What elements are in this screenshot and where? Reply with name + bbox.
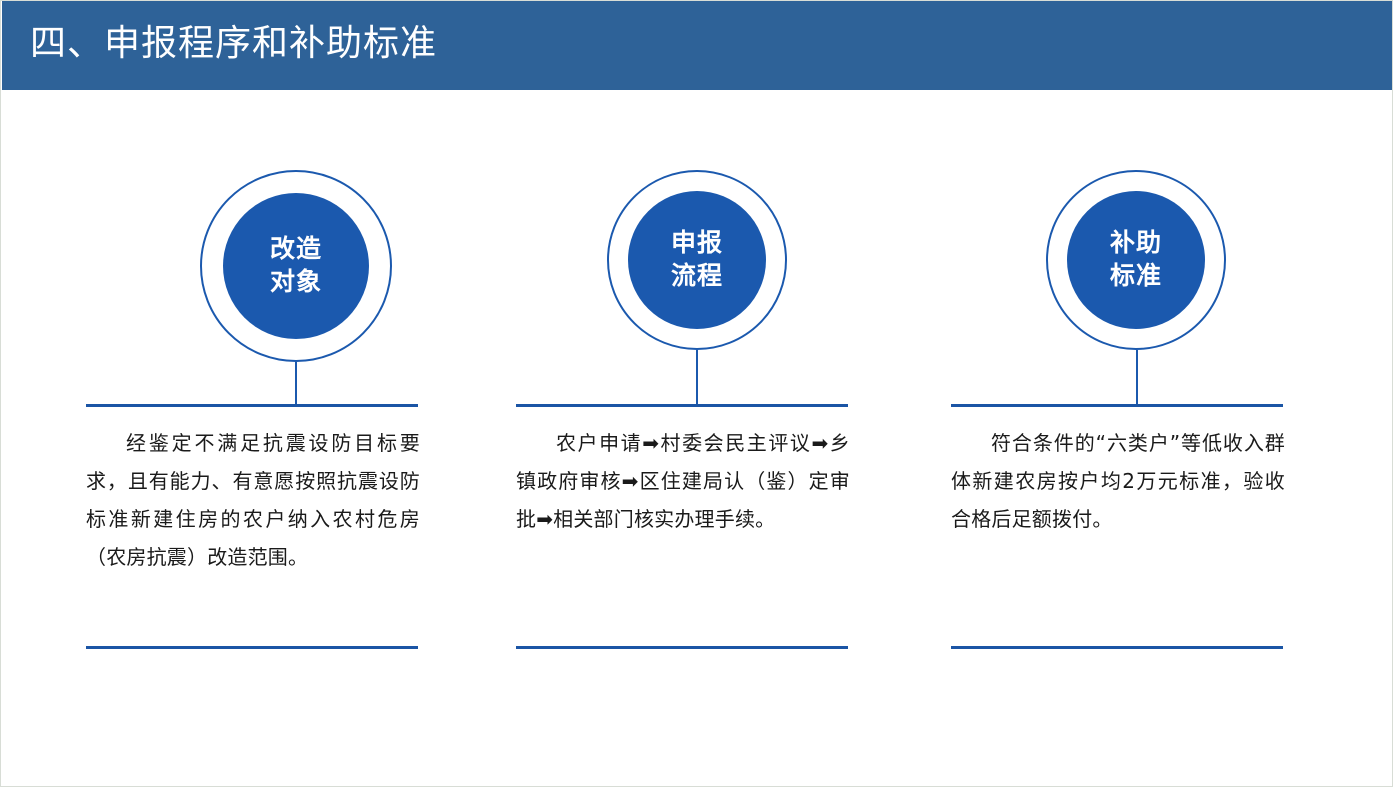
circle-group-2: 申报 流程 (471, 170, 891, 362)
connector-stem-3 (1136, 350, 1138, 406)
circle-label-line2: 对象 (270, 266, 322, 299)
divider-bottom-2 (516, 646, 848, 649)
column-shenbao-liucheng: 申报 流程 农户申请➡村委会民主评议➡乡镇政府审核➡区住建局认（鉴）定审批➡相关… (471, 90, 891, 787)
slide: 四、申报程序和补助标准 改造 对象 经鉴定不满足抗震设防目标要求，且有能力、有意… (0, 0, 1393, 787)
circle-group-3: 补助 标准 (906, 170, 1326, 362)
body-text-3: 符合条件的“六类户”等低收入群体新建农房按户均2万元标准，验收合格后足额拨付。 (951, 424, 1285, 538)
circle-label-line1: 申报 (671, 227, 723, 260)
column-buzhu-biaozhun: 补助 标准 符合条件的“六类户”等低收入群体新建农房按户均2万元标准，验收合格后… (906, 90, 1326, 787)
circle-label-line2: 流程 (671, 260, 723, 293)
circle-badge-2[interactable]: 申报 流程 (628, 191, 766, 329)
column-gaizao-duixiang: 改造 对象 经鉴定不满足抗震设防目标要求，且有能力、有意愿按照抗震设防标准新建住… (41, 90, 461, 787)
body-text-1: 经鉴定不满足抗震设防目标要求，且有能力、有意愿按照抗震设防标准新建住房的农户纳入… (86, 424, 420, 576)
page-title: 四、申报程序和补助标准 (30, 15, 437, 71)
body-text-2: 农户申请➡村委会民主评议➡乡镇政府审核➡区住建局认（鉴）定审批➡相关部门核实办理… (516, 424, 850, 538)
circle-label-line2: 标准 (1110, 260, 1162, 293)
circle-label-line1: 改造 (270, 233, 322, 266)
circle-badge-3[interactable]: 补助 标准 (1067, 191, 1205, 329)
divider-bottom-3 (951, 646, 1283, 649)
columns-container: 改造 对象 经鉴定不满足抗震设防目标要求，且有能力、有意愿按照抗震设防标准新建住… (1, 90, 1393, 787)
divider-top-1 (86, 404, 418, 407)
divider-top-3 (951, 404, 1283, 407)
circle-group-1: 改造 对象 (41, 170, 461, 362)
circle-badge-1[interactable]: 改造 对象 (223, 193, 369, 339)
header-bar: 四、申报程序和补助标准 (2, 1, 1393, 90)
connector-stem-1 (295, 362, 297, 406)
connector-stem-2 (696, 350, 698, 406)
circle-label-line1: 补助 (1110, 227, 1162, 260)
divider-top-2 (516, 404, 848, 407)
divider-bottom-1 (86, 646, 418, 649)
